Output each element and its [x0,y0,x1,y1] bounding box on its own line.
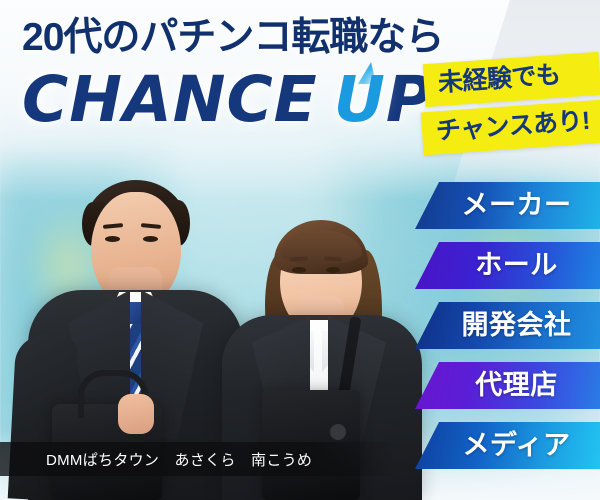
category-list: メーカー ホール 開発会社 代理店 メディア [415,182,600,469]
woman-eyebrow-right [324,256,342,261]
credit-text: DMMぱちタウン あさくら 南こうめ [0,449,312,470]
man-eye-right [143,236,158,242]
category-label: 開発会社 [444,312,572,339]
category-label: メーカー [444,192,572,219]
credit-band: DMMぱちタウン あさくら 南こうめ [0,442,396,476]
logo-word-chance: CHANCE [22,68,318,131]
badge-no-experience: 未経験でも [423,52,600,107]
category-item-maker[interactable]: メーカー [415,182,600,229]
category-item-development-company[interactable]: 開発会社 [415,302,600,349]
highlight-badges: 未経験でも チャンスあり! [424,58,600,149]
man-hand [118,394,154,434]
category-item-media[interactable]: メディア [415,422,600,469]
woman-eyebrow-left [290,256,308,261]
category-label: ホール [457,252,558,279]
category-item-hall[interactable]: ホール [415,242,600,289]
man-eye-left [105,236,120,242]
page-title: 20代のパチンコ転職なら [22,18,443,57]
logo-letter-u: U [334,68,386,131]
woman-eye-left [292,267,306,273]
badge-chance-available: チャンスあり! [421,100,600,156]
chance-up-logo: CHANCE U P [22,68,433,131]
woman-eye-right [326,267,340,273]
category-label: メディア [444,432,570,459]
category-label: 代理店 [457,372,558,399]
logo-word-up: U P [334,68,433,131]
category-item-agency[interactable]: 代理店 [415,362,600,409]
advertisement-banner[interactable]: 20代のパチンコ転職なら CHANCE U P 未経験でも チャンスあり! メー… [0,0,600,500]
